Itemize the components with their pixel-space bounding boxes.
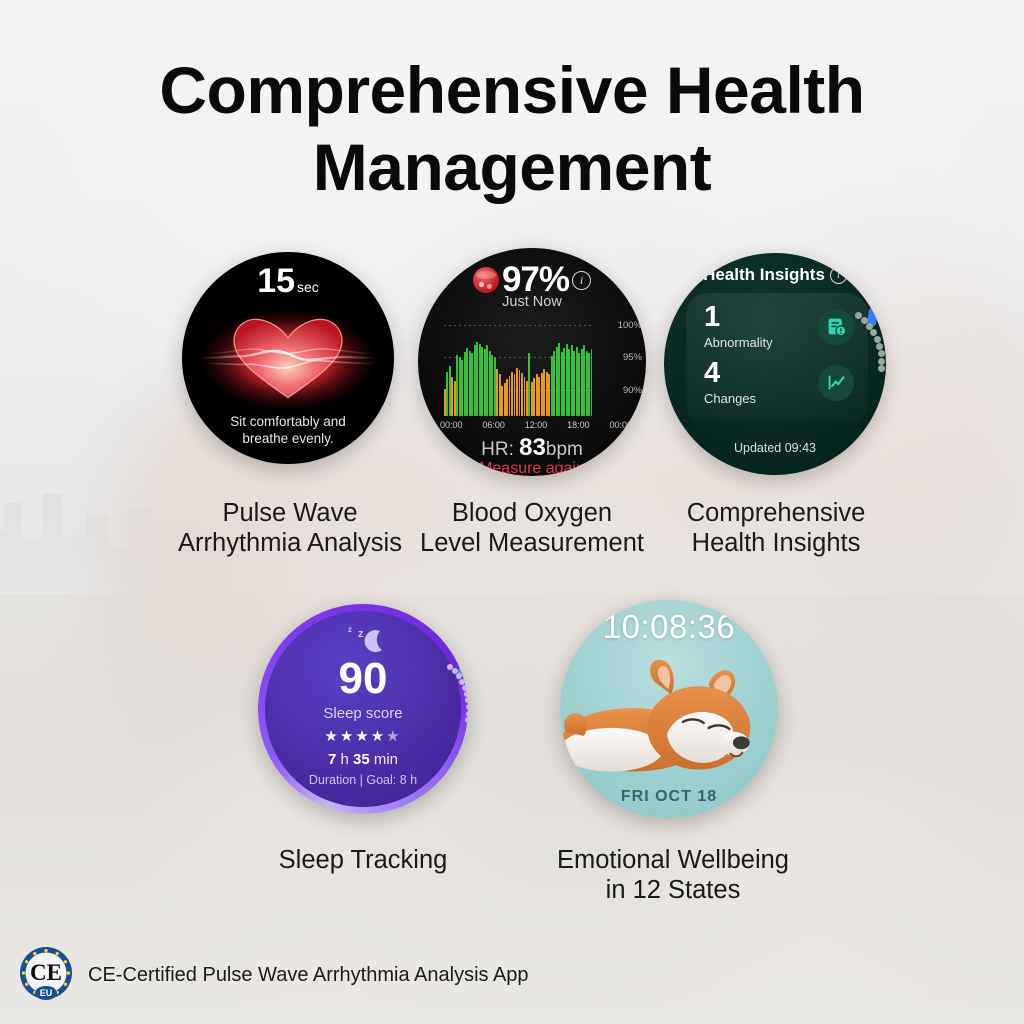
scroll-dot <box>878 350 885 357</box>
sleep-duration: 7 h 35 min <box>265 751 461 768</box>
scroll-dot <box>459 679 465 685</box>
chart-bar <box>548 374 550 416</box>
insight-row-changes[interactable]: 4 Changes <box>704 359 854 406</box>
glowing-heart-icon <box>182 304 394 412</box>
sleep-score-value: 90 <box>265 657 461 701</box>
pet-watch-time: 10:08:36 <box>560 608 778 646</box>
pet-watch-date: FRI OCT 18 <box>560 788 778 806</box>
blood-drop-icon <box>473 267 499 293</box>
heart-rate-value: 83 <box>519 434 546 461</box>
abnormality-label: Abnormality <box>704 335 773 350</box>
chart-bar <box>476 342 478 416</box>
chart-y-tick: 90% <box>623 385 642 396</box>
chart-bar <box>491 355 493 416</box>
scroll-indicator[interactable] <box>457 662 468 758</box>
changes-label: Changes <box>704 391 756 406</box>
sleep-score-label: Sleep score <box>265 705 461 722</box>
chart-bar <box>573 351 575 416</box>
scroll-dot <box>464 691 468 697</box>
chart-bar <box>501 386 503 416</box>
chart-bars <box>444 318 592 416</box>
chart-bar <box>591 349 593 416</box>
heart-rate-unit: bpm <box>546 439 583 460</box>
scroll-dot <box>878 365 885 372</box>
scroll-dot <box>466 711 468 717</box>
chart-bar <box>461 360 463 416</box>
sleep-goal-label: Duration | Goal: 8 h <box>265 773 461 787</box>
watch-face-health-insights[interactable]: Health Insights i 1 Abnormality <box>664 253 886 475</box>
chart-y-axis-labels: 100%95%90% <box>596 318 642 416</box>
insight-row-abnormality[interactable]: 1 Abnormality <box>704 303 854 350</box>
countdown-seconds: 15sec <box>182 262 394 301</box>
chart-x-axis-labels: 00:0006:0012:0018:0000:00 <box>440 420 632 430</box>
chart-bar <box>578 353 580 416</box>
svg-text:z: z <box>358 628 364 640</box>
caption-pulse-wave: Pulse Wave Arrhythmia Analysis <box>150 498 430 558</box>
changes-count: 4 <box>704 359 756 388</box>
chart-bar <box>511 372 513 416</box>
chart-bar <box>496 369 498 416</box>
updated-timestamp: Updated 09:43 <box>664 441 886 455</box>
trend-chart-icon <box>818 365 854 401</box>
info-icon[interactable]: i <box>830 267 847 284</box>
svg-text:CE: CE <box>30 960 62 985</box>
chart-bar <box>486 345 488 416</box>
chart-y-tick: 100% <box>618 320 642 331</box>
ce-badge-icon: CE EU <box>18 945 74 1006</box>
page-title: Comprehensive Health Management <box>0 52 1024 205</box>
spo2-timestamp: Just Now <box>418 294 646 310</box>
chart-bar <box>588 353 590 416</box>
chart-bar <box>516 368 518 416</box>
health-insights-title: Health Insights i <box>664 265 886 285</box>
scroll-dot <box>878 358 885 365</box>
scroll-dot <box>462 685 468 691</box>
chart-x-tick: 18:00 <box>567 420 590 430</box>
scroll-indicator[interactable] <box>866 311 880 421</box>
chart-bar <box>466 348 468 416</box>
insights-card: 1 Abnormality 4 Changes <box>686 293 868 421</box>
sleeping-corgi-icon <box>560 648 778 788</box>
chart-bar <box>553 351 555 416</box>
chart-bar <box>568 349 570 416</box>
scroll-dot <box>465 717 468 723</box>
chart-bar <box>558 343 560 416</box>
svg-text:z: z <box>348 625 352 634</box>
chart-y-tick: 95% <box>623 352 642 363</box>
chart-bar <box>583 345 585 416</box>
measure-again-button[interactable]: Measure again <box>418 460 646 476</box>
watch-face-emotional-wellbeing[interactable]: 10:08:36 <box>560 600 778 818</box>
chart-bar <box>543 369 545 416</box>
moon-zzz-icon: z z <box>265 623 461 657</box>
caption-sleep-tracking: Sleep Tracking <box>223 845 503 875</box>
chart-bar <box>471 353 473 416</box>
watch-face-pulse-wave[interactable]: 15sec <box>182 252 394 464</box>
chart-x-tick: 00:00 <box>440 420 463 430</box>
scroll-dot <box>874 336 881 343</box>
chart-x-tick: 12:00 <box>525 420 548 430</box>
document-alert-icon <box>818 309 854 345</box>
chart-bar <box>521 373 523 416</box>
scroll-dot <box>465 697 468 703</box>
caption-health-insights: Comprehensive Health Insights <box>636 498 916 558</box>
sleep-face-inner: z z 90 Sleep score ★★★★★ 7 h 35 min Dura… <box>265 611 461 807</box>
seconds-unit: sec <box>297 279 319 295</box>
chart-bar <box>481 347 483 416</box>
scroll-dot <box>466 704 468 710</box>
watch-face-sleep-tracking[interactable]: z z 90 Sleep score ★★★★★ 7 h 35 min Dura… <box>258 604 468 814</box>
half-star: ★ <box>386 728 401 745</box>
footer-certification: CE EU CE-Certified Pulse Wave Arrhythmia… <box>18 945 529 1006</box>
info-icon[interactable]: i <box>572 271 591 290</box>
certification-text: CE-Certified Pulse Wave Arrhythmia Analy… <box>88 964 529 987</box>
chart-x-tick: 06:00 <box>482 420 505 430</box>
chart-bar <box>563 348 565 416</box>
svg-text:EU: EU <box>40 988 53 998</box>
caption-emotional-wellbeing: Emotional Wellbeing in 12 States <box>533 845 813 905</box>
full-stars: ★★★★ <box>324 728 386 745</box>
abnormality-count: 1 <box>704 303 773 332</box>
caption-blood-oxygen: Blood Oxygen Level Measurement <box>392 498 672 558</box>
scroll-dot <box>876 343 883 350</box>
heart-rate-readout: HR: 83bpm <box>418 434 646 462</box>
spo2-bar-chart <box>444 318 592 416</box>
sleep-star-rating: ★★★★★ <box>265 727 461 745</box>
chart-bar <box>506 379 508 416</box>
pulse-instruction-text: Sit comfortably and breathe evenly. <box>182 414 394 448</box>
watch-face-blood-oxygen[interactable]: 97% i Just Now 100%95%90% 00:0006:0012:0… <box>418 248 646 476</box>
chart-x-tick: 00:00 <box>609 420 632 430</box>
